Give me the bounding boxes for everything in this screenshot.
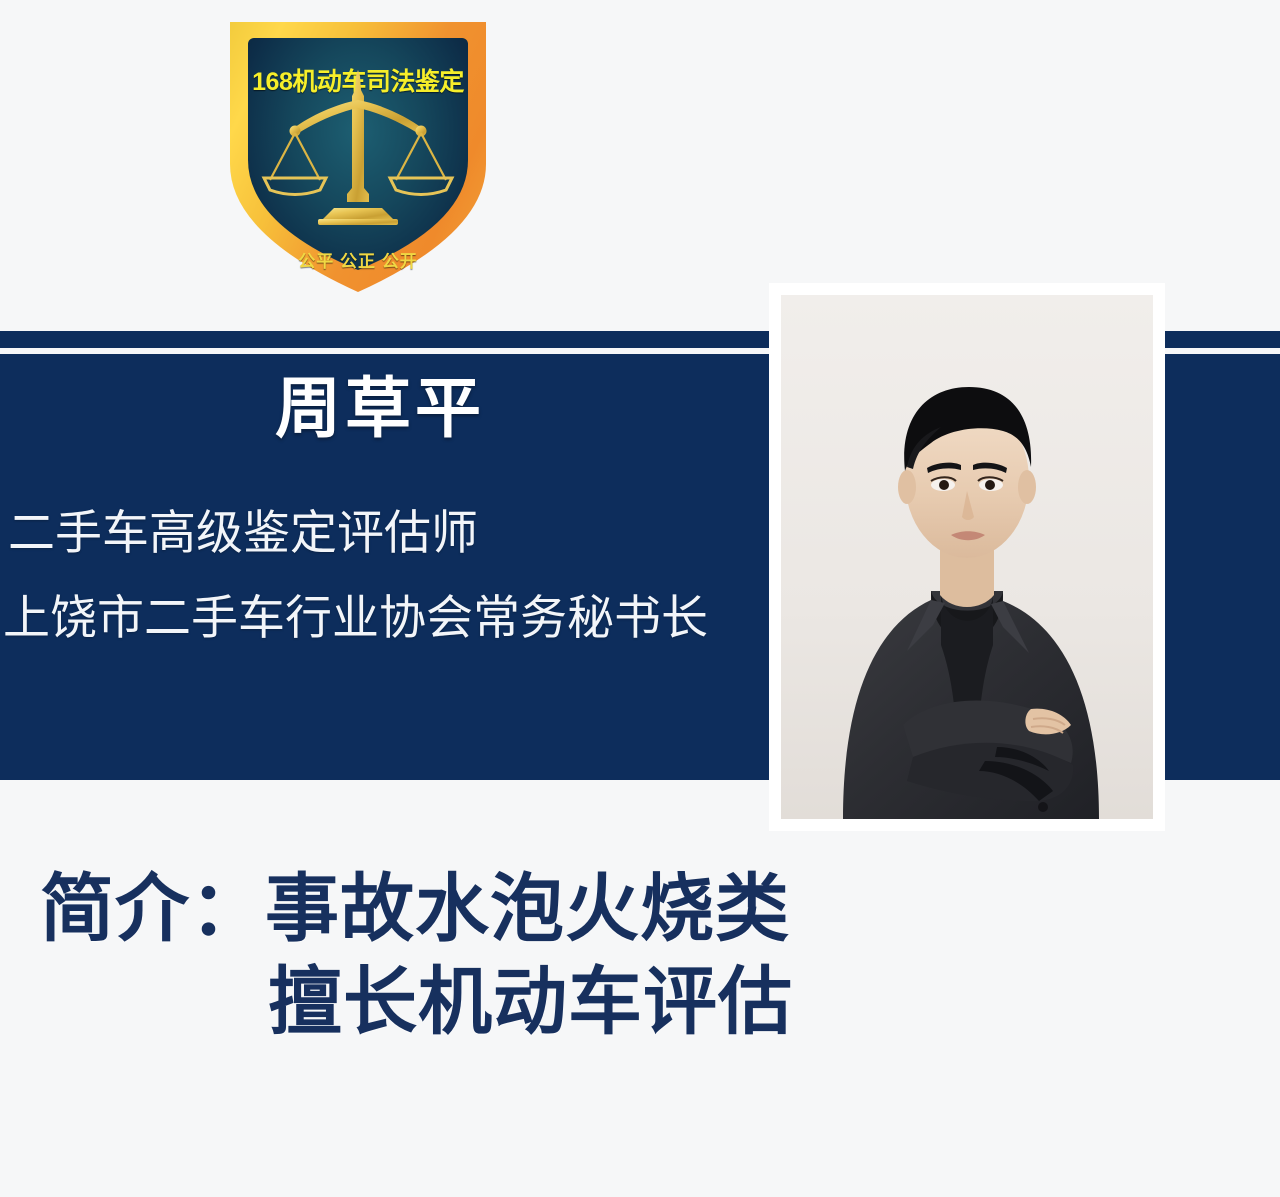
- poster-canvas: 168机动车司法鉴定: [0, 0, 1280, 1197]
- banner-text-group: 周草平 二手车高级鉴定评估师 上饶市二手车行业协会常务秘书长: [0, 354, 760, 443]
- company-logo: 168机动车司法鉴定: [222, 14, 494, 299]
- intro-line-1: 简介：事故水泡火烧类: [40, 865, 1280, 952]
- intro-line-2: 擅长机动车评估: [268, 958, 1280, 1045]
- credential-line-1: 二手车高级鉴定评估师: [8, 509, 478, 556]
- portrait-frame: [769, 283, 1165, 831]
- logo-motto: 公平 公正 公开: [222, 247, 494, 272]
- portrait-illustration: [781, 295, 1153, 819]
- credential-line-2: 上饶市二手车行业协会常务秘书长: [3, 594, 708, 641]
- intro-block: 简介：事故水泡火烧类 擅长机动车评估: [0, 865, 1280, 1046]
- avatar: [781, 295, 1153, 819]
- page-title: 周草平: [0, 354, 760, 443]
- scales-of-justice-icon: [248, 38, 468, 270]
